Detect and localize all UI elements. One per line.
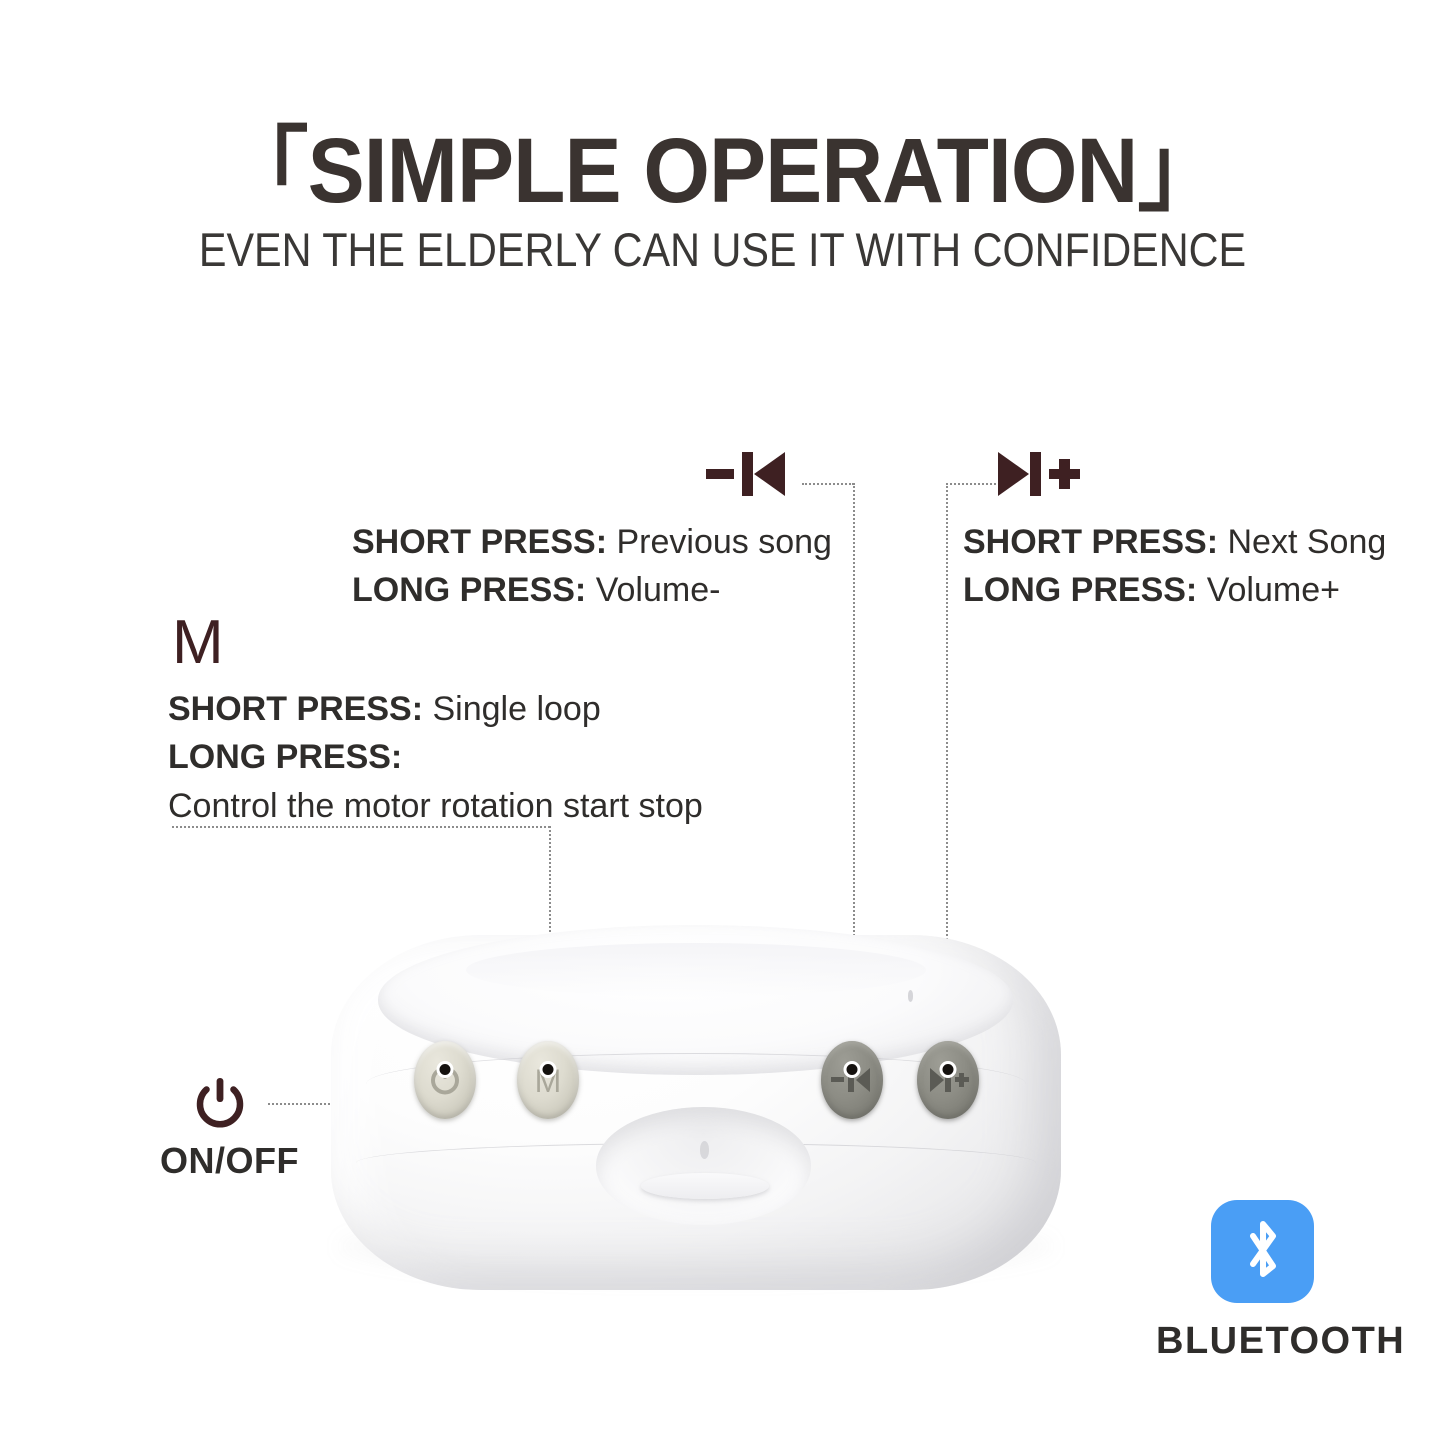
mode-short-press-label: SHORT PRESS: [168,690,423,728]
infographic-canvas: 「SIMPLE OPERATION」 EVEN THE ELDERLY CAN … [0,0,1445,1445]
device-mode-button[interactable]: M [517,1041,579,1119]
power-icon [190,1075,250,1140]
device-lid-emboss [466,943,926,997]
leader-next-horizontal [946,483,996,485]
previous-long-press-line: LONG PRESS: Volume- [352,566,832,614]
next-long-press-label: LONG PRESS: [963,571,1197,609]
onoff-label: ON/OFF [160,1140,299,1182]
previous-track-minus-icon [706,448,792,505]
mode-long-press-label: LONG PRESS: [168,738,402,776]
leader-previous-horizontal [802,483,854,485]
callout-previous: SHORT PRESS: Previous song LONG PRESS: V… [352,518,832,615]
device-mouth-slot [641,1173,769,1199]
mode-long-press-value-line: Control the motor rotation start stop [168,782,703,830]
next-short-press-line: SHORT PRESS: Next Song [963,518,1386,566]
power-anchor-dot [437,1061,454,1078]
previous-short-press-line: SHORT PRESS: Previous song [352,518,832,566]
device-power-button[interactable] [414,1041,476,1119]
next-short-press-value: Next Song [1228,523,1387,561]
callout-next: SHORT PRESS: Next Song LONG PRESS: Volum… [963,518,1386,615]
m-mode-glyph: M [172,612,224,674]
previous-short-press-label: SHORT PRESS: [352,523,607,561]
device-speck [908,990,913,1002]
device-previous-button[interactable] [821,1041,883,1119]
callout-mode: SHORT PRESS: Single loop LONG PRESS: Con… [168,685,703,830]
previous-long-press-label: LONG PRESS: [352,571,586,609]
bluetooth-label: BLUETOOTH [1156,1320,1405,1363]
next-long-press-value: Volume+ [1207,571,1340,609]
device-pore [700,1141,709,1159]
next-long-press-line: LONG PRESS: Volume+ [963,566,1386,614]
mode-short-press-line: SHORT PRESS: Single loop [168,685,703,733]
next-short-press-label: SHORT PRESS: [963,523,1218,561]
mode-long-press-label-line: LONG PRESS: [168,733,703,781]
previous-long-press-value: Volume- [596,571,721,609]
mode-long-press-value: Control the motor rotation start stop [168,787,703,825]
previous-short-press-value: Previous song [617,523,832,561]
mode-anchor-dot [540,1061,557,1078]
device-next-button[interactable] [917,1041,979,1119]
device-front-dimple [596,1107,811,1225]
bluetooth-icon [1211,1200,1314,1303]
page-subtitle: EVEN THE ELDERLY CAN USE IT WITH CONFIDE… [87,222,1359,277]
white-round-speaker-device: M [296,925,1096,1325]
bluetooth-badge [1211,1200,1314,1303]
next-track-plus-icon [996,448,1084,505]
next-anchor-dot [940,1061,957,1078]
mode-short-press-value: Single loop [433,690,601,728]
previous-anchor-dot [844,1061,861,1078]
page-title: 「SIMPLE OPERATION」 [51,96,1395,229]
